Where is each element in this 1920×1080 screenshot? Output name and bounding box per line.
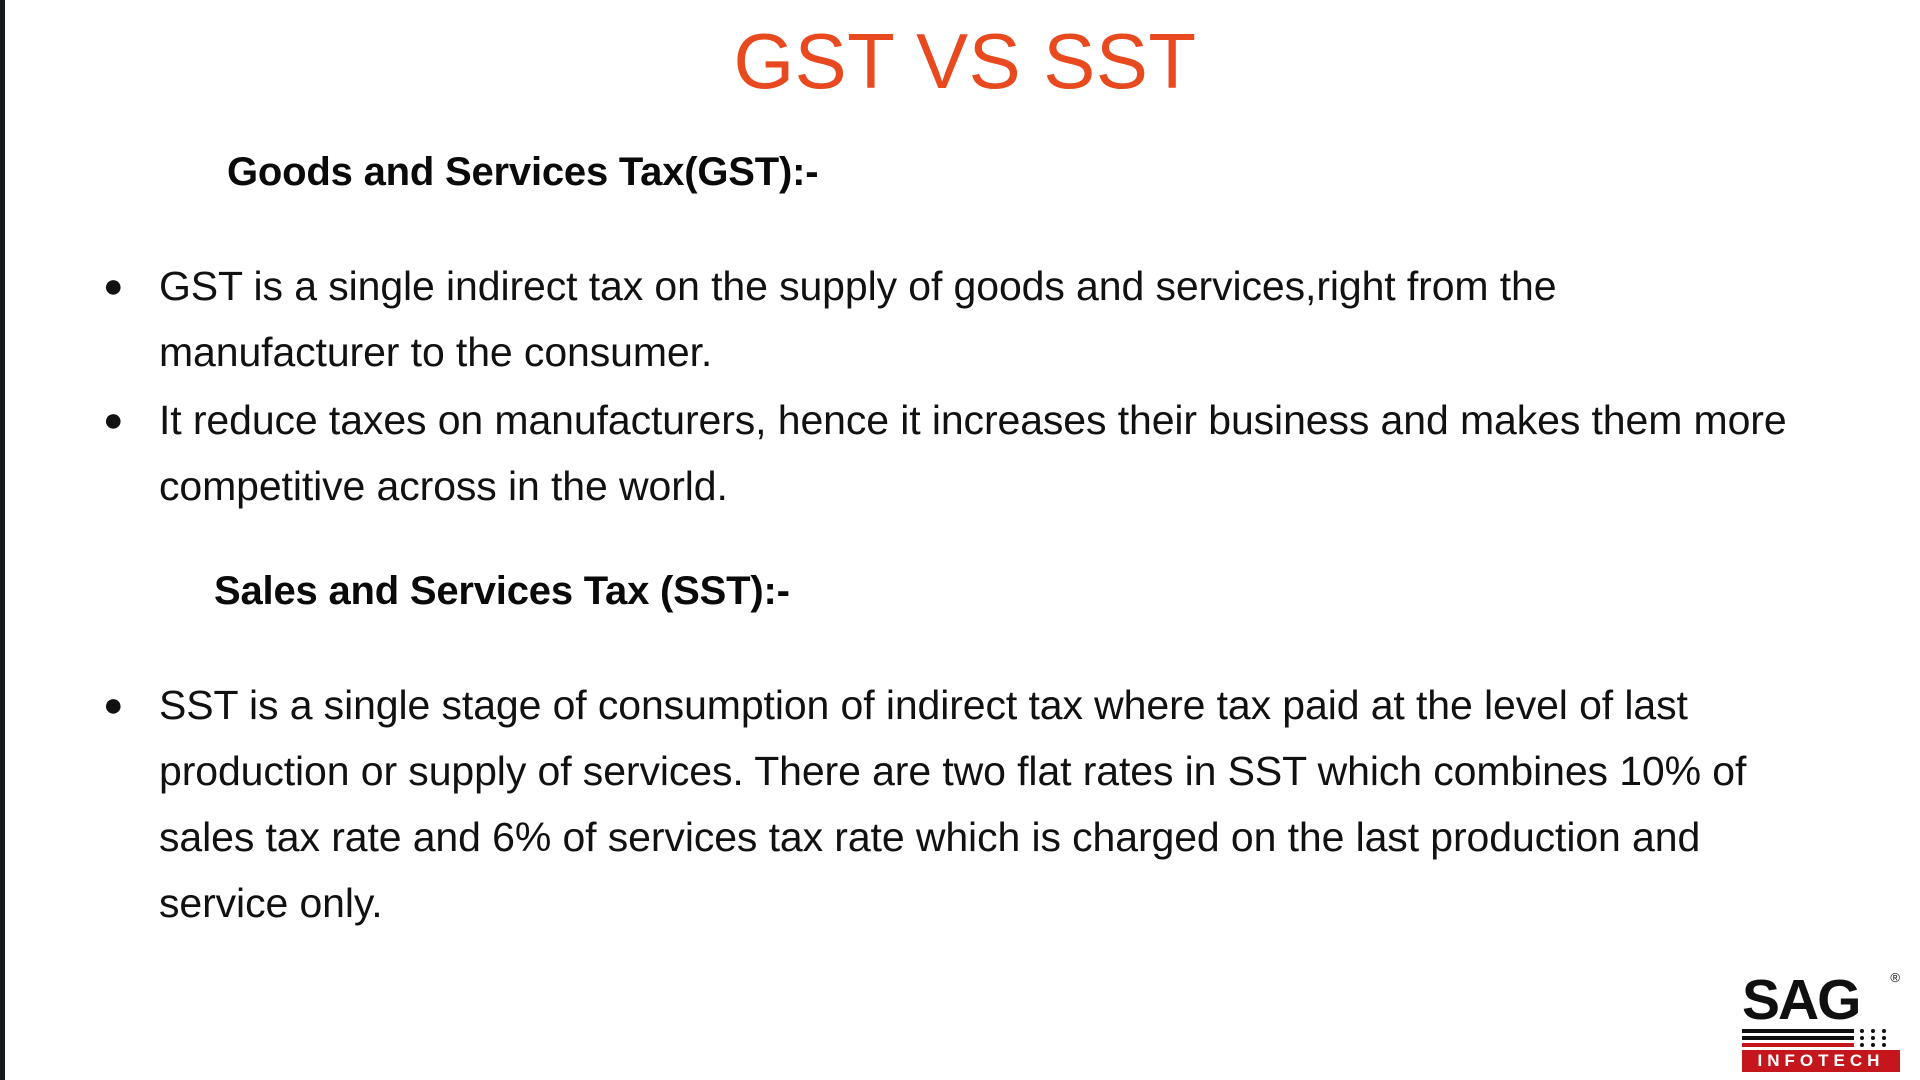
bullet-point-icon: ● [97, 387, 159, 453]
logo-banner-text: INFOTECH [1742, 1050, 1900, 1072]
logo-wordmark: SAG [1742, 973, 1860, 1027]
logo-wordmark-row: SAG ® [1742, 973, 1900, 1027]
logo-bar-3 [1742, 1043, 1854, 1047]
list-item-text: It reduce taxes on manufacturers, hence … [159, 387, 1857, 519]
bullet-list-gst: ● GST is a single indirect tax on the su… [97, 253, 1857, 521]
list-item: ● It reduce taxes on manufacturers, henc… [97, 387, 1857, 519]
logo-dots-decoration [1860, 1029, 1900, 1047]
logo-bars-decoration [1742, 1029, 1900, 1047]
list-item: ● SST is a single stage of consumption o… [97, 672, 1857, 936]
sag-infotech-logo: SAG ® INFOTECH [1742, 973, 1900, 1072]
bullet-point-icon: ● [97, 253, 159, 319]
registered-trademark-icon: ® [1890, 971, 1900, 984]
bullet-list-sst: ● SST is a single stage of consumption o… [97, 672, 1857, 938]
list-item-text: SST is a single stage of consumption of … [159, 672, 1857, 936]
section-heading-gst: Goods and Services Tax(GST):- [227, 150, 818, 194]
logo-bar-1 [1742, 1029, 1854, 1033]
bullet-point-icon: ● [97, 672, 159, 738]
page-title: GST VS SST [5, 22, 1920, 102]
presentation-slide: GST VS SST Goods and Services Tax(GST):-… [0, 0, 1920, 1080]
list-item: ● GST is a single indirect tax on the su… [97, 253, 1857, 385]
section-heading-sst: Sales and Services Tax (SST):- [214, 569, 790, 613]
list-item-text: GST is a single indirect tax on the supp… [159, 253, 1857, 385]
logo-bar-2 [1742, 1036, 1854, 1040]
